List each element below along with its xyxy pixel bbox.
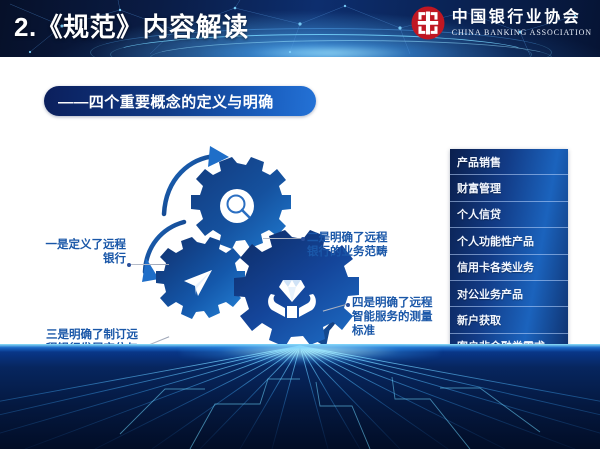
- slide-root: 2.《规范》内容解读 中国银行业协会 CHINA BANKING ASSOCIA…: [0, 0, 600, 449]
- callout-4: 四是明确了远程 智能服务的测量 标准: [352, 296, 433, 338]
- association-logo: 中国银行业协会 CHINA BANKING ASSOCIATION: [411, 6, 592, 40]
- logo-english-name: CHINA BANKING ASSOCIATION: [452, 29, 592, 37]
- list-item[interactable]: 个人信贷: [450, 202, 568, 228]
- leader-line-1: [131, 264, 169, 265]
- leader-dot-4: [346, 303, 350, 307]
- china-banking-association-seal-icon: [411, 6, 445, 40]
- callout-1: 一是定义了远程 银行: [18, 238, 126, 266]
- business-scope-list: 产品销售 财富管理 个人信贷 个人功能性产品 信用卡各类业务 对公业务产品 新户…: [450, 149, 568, 359]
- list-item[interactable]: 产品销售: [450, 149, 568, 175]
- list-item[interactable]: 财富管理: [450, 175, 568, 201]
- logo-chinese-name: 中国银行业协会: [452, 10, 592, 26]
- list-item[interactable]: 新户获取: [450, 307, 568, 333]
- page-title: 2.《规范》内容解读: [14, 7, 249, 44]
- leader-dot-2: [301, 237, 305, 241]
- callout-2: 二是明确了远程 银行的业务范畴: [307, 231, 388, 259]
- slide-header: 2.《规范》内容解读 中国银行业协会 CHINA BANKING ASSOCIA…: [0, 0, 600, 57]
- slide-footer-grid: [0, 344, 600, 449]
- list-item[interactable]: 个人功能性产品: [450, 228, 568, 254]
- leader-line-2: [263, 238, 301, 239]
- section-banner: ——四个重要概念的定义与明确: [44, 86, 316, 116]
- list-item[interactable]: 信用卡各类业务: [450, 255, 568, 281]
- list-item[interactable]: 对公业务产品: [450, 281, 568, 307]
- slide-body: ——四个重要概念的定义与明确: [0, 57, 600, 344]
- logo-wordmark: 中国银行业协会 CHINA BANKING ASSOCIATION: [452, 10, 592, 37]
- floor-center-glow: [180, 344, 440, 364]
- section-banner-label: ——四个重要概念的定义与明确: [44, 91, 274, 112]
